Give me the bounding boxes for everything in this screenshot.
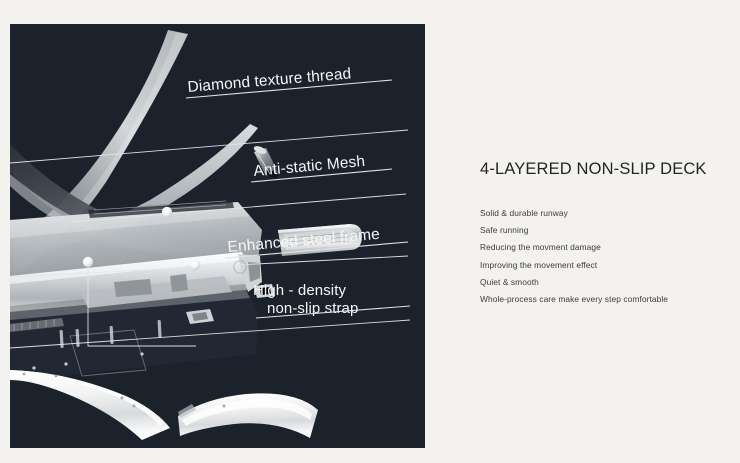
list-item: Improving the movement effect xyxy=(480,257,730,274)
callout-text-non-slip-strap: non-slip strap xyxy=(267,300,358,317)
product-image-panel: Diamond texture thread Anti-static Mesh … xyxy=(10,24,425,448)
marker-dot-anti-static-mesh xyxy=(162,207,172,217)
page-title: 4-LAYERED NON-SLIP DECK xyxy=(480,160,730,179)
exploded-deck-illustration: Diamond texture thread Anti-static Mesh … xyxy=(10,24,425,448)
marker-dot-non-slip-strap xyxy=(83,257,93,267)
feature-list: Solid & durable runway Safe running Redu… xyxy=(480,205,730,308)
list-item: Whole-process care make every step comfo… xyxy=(480,291,730,308)
marker-dot-enhanced-steel-frame xyxy=(190,260,200,270)
product-info-panel: 4-LAYERED NON-SLIP DECK Solid & durable … xyxy=(480,160,730,308)
list-item: Solid & durable runway xyxy=(480,205,730,222)
list-item: Quiet & smooth xyxy=(480,274,730,291)
callout-text-high-density: High - density xyxy=(253,282,347,299)
list-item: Safe running xyxy=(480,222,730,239)
list-item: Reducing the movment damage xyxy=(480,239,730,256)
